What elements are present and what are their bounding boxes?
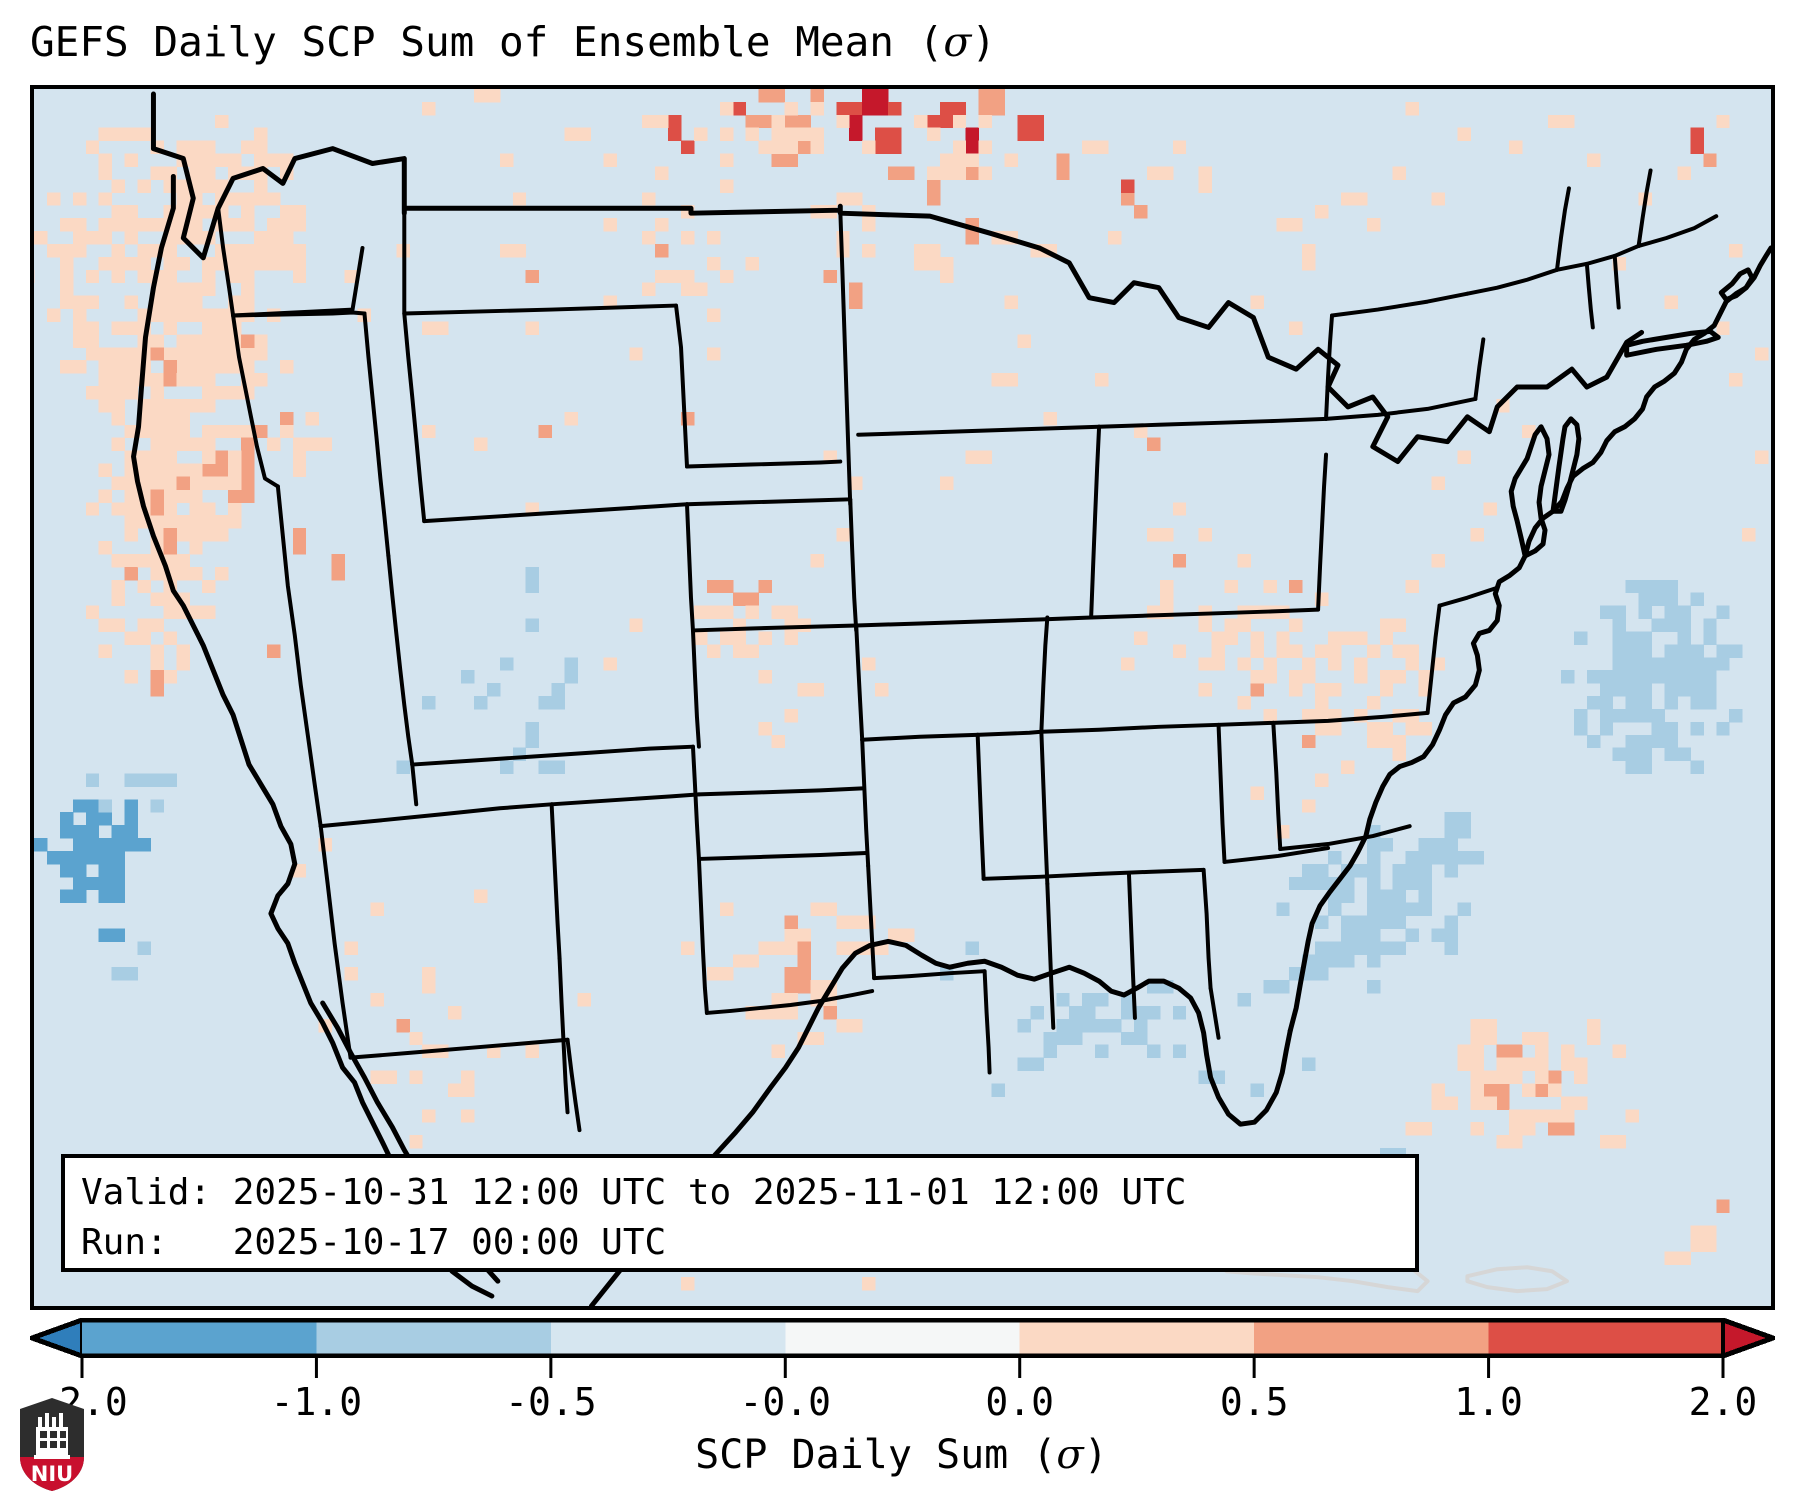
data-cell	[1522, 1058, 1535, 1071]
data-cell	[189, 438, 202, 451]
data-cell	[707, 257, 720, 270]
data-cell	[189, 166, 202, 179]
data-cell	[163, 464, 176, 477]
data-cell	[759, 670, 772, 683]
data-cell	[552, 683, 565, 709]
data-cell	[1587, 735, 1600, 748]
data-cell	[1212, 657, 1225, 670]
data-cell	[1199, 166, 1212, 192]
data-cell	[1664, 1251, 1690, 1264]
data-cell	[1470, 1096, 1483, 1109]
data-cell	[1561, 670, 1574, 683]
data-cell	[1639, 735, 1652, 748]
data-cell	[526, 567, 539, 593]
data-cell	[694, 128, 707, 141]
data-cell	[513, 192, 526, 205]
data-cell	[1367, 941, 1380, 954]
data-cell	[202, 528, 215, 541]
data-cell	[189, 154, 202, 167]
data-cell	[176, 464, 189, 477]
data-cell	[422, 1109, 435, 1122]
data-cell	[1380, 722, 1393, 735]
data-cell	[125, 218, 138, 231]
data-cell	[1276, 218, 1302, 231]
data-cell	[720, 270, 733, 283]
data-cell	[125, 502, 138, 515]
data-cell	[1341, 890, 1354, 903]
data-cell	[953, 141, 966, 154]
data-cell	[1419, 864, 1432, 877]
data-cell	[1367, 218, 1380, 231]
data-cell	[1716, 321, 1729, 334]
data-cell	[1406, 102, 1419, 115]
data-cell	[1354, 864, 1367, 877]
data-cell	[138, 244, 151, 257]
data-cell	[112, 399, 125, 412]
data-cell	[810, 554, 823, 567]
data-cell	[1354, 631, 1367, 644]
data-cell	[1626, 657, 1639, 670]
data-cell	[202, 360, 215, 373]
data-cell	[1367, 851, 1380, 864]
data-cell	[1522, 1032, 1548, 1045]
data-cell	[112, 373, 125, 386]
data-cell	[228, 502, 241, 515]
data-cell	[1108, 231, 1121, 244]
data-cell	[1237, 696, 1250, 709]
data-cell	[1677, 683, 1690, 696]
data-cell	[99, 218, 112, 231]
data-cell	[1380, 631, 1393, 644]
data-cell	[99, 347, 112, 360]
data-cell	[733, 102, 746, 115]
data-cell	[254, 231, 267, 244]
data-cell	[1406, 1122, 1432, 1135]
data-cell	[86, 877, 99, 890]
data-cell	[150, 670, 163, 696]
data-cell	[150, 399, 163, 412]
data-cell	[125, 231, 138, 244]
data-cell	[1664, 748, 1677, 761]
data-cell	[1173, 502, 1186, 515]
data-cell	[47, 851, 60, 864]
data-cell	[1173, 1045, 1186, 1058]
colorbar-tick-label: 1.0	[1454, 1380, 1523, 1424]
data-cell	[1367, 903, 1380, 916]
data-cell	[1445, 1096, 1458, 1109]
data-cell	[1225, 619, 1238, 632]
data-cell	[1432, 1083, 1445, 1096]
data-cell	[1626, 670, 1639, 683]
data-cell	[966, 451, 992, 464]
data-cell	[176, 425, 189, 438]
data-cell	[1690, 761, 1703, 774]
data-cell	[1328, 644, 1341, 657]
data-cell	[1225, 580, 1238, 593]
data-cell	[1548, 115, 1574, 128]
data-cell	[241, 438, 254, 464]
data-cell	[785, 928, 811, 941]
data-cell	[1626, 1109, 1639, 1122]
data-cell	[86, 606, 99, 619]
data-cell	[1367, 954, 1380, 967]
data-cell	[1393, 166, 1406, 179]
data-cell	[99, 644, 112, 657]
colorbar-label-main: SCP Daily Sum (	[695, 1432, 1056, 1478]
data-cell	[280, 360, 293, 373]
data-cell	[603, 657, 616, 670]
data-cell	[215, 309, 228, 322]
data-cell	[138, 464, 151, 477]
data-cell	[138, 838, 151, 851]
data-cell	[163, 399, 176, 412]
data-cell	[138, 580, 151, 593]
data-cell	[1250, 631, 1263, 644]
data-cell	[1703, 154, 1716, 167]
data-cell	[228, 386, 241, 399]
data-cell	[1393, 864, 1406, 877]
data-cell	[112, 825, 125, 838]
data-cell	[1302, 244, 1315, 270]
data-cell	[797, 941, 810, 967]
data-cell	[1742, 528, 1755, 541]
data-cell	[849, 283, 862, 309]
data-cell	[228, 257, 241, 270]
data-cell	[720, 903, 733, 916]
data-cell	[150, 567, 163, 580]
data-cell	[86, 774, 99, 787]
data-cell	[125, 360, 138, 373]
data-cell	[163, 489, 176, 502]
data-cell	[1017, 334, 1030, 347]
data-cell	[202, 451, 215, 464]
data-cell	[86, 347, 99, 360]
data-cell	[1095, 1045, 1108, 1058]
data-cell	[1509, 1109, 1522, 1122]
data-cell	[150, 464, 163, 477]
data-cell	[163, 502, 176, 515]
data-cell	[112, 593, 125, 606]
data-cell	[202, 309, 215, 322]
data-cell	[1587, 154, 1600, 167]
data-cell	[86, 502, 99, 515]
data-cell	[1445, 812, 1471, 838]
data-cell	[1626, 735, 1639, 748]
data-cell	[474, 696, 487, 709]
data-cell	[163, 283, 176, 296]
data-cell	[189, 283, 202, 296]
data-cell	[565, 412, 578, 425]
data-cell	[772, 735, 785, 748]
data-cell	[1522, 1122, 1535, 1135]
data-cell	[280, 218, 293, 231]
niu-logo: NIU	[14, 1395, 90, 1493]
data-cell	[422, 967, 435, 993]
data-cell	[1315, 864, 1328, 877]
data-cell	[1626, 683, 1639, 696]
data-cell	[953, 166, 966, 179]
data-cell	[163, 321, 176, 334]
data-cell	[1716, 722, 1729, 735]
data-cell	[953, 115, 966, 128]
data-cell	[189, 489, 202, 502]
data-cell	[1457, 128, 1470, 141]
data-cell	[215, 347, 228, 360]
data-cell	[1690, 722, 1703, 735]
data-cell	[1380, 619, 1406, 632]
data-cell	[849, 115, 862, 141]
data-cell	[125, 799, 138, 812]
data-cell	[99, 373, 112, 386]
data-cell	[1600, 1135, 1626, 1148]
data-cell	[189, 476, 202, 489]
data-cell	[306, 438, 319, 451]
data-cell	[125, 489, 138, 502]
data-cell	[99, 928, 125, 941]
data-cell	[1199, 619, 1212, 632]
data-cell	[125, 528, 138, 541]
data-cell	[1406, 851, 1419, 864]
data-cell	[1302, 1058, 1315, 1071]
data-cell	[1121, 1032, 1134, 1045]
data-cell	[772, 606, 785, 619]
data-cell	[1522, 1083, 1535, 1096]
data-cell	[1302, 657, 1315, 670]
data-cell	[1652, 619, 1665, 632]
data-cell	[176, 476, 189, 489]
data-cell	[966, 154, 979, 167]
data-cell	[47, 309, 60, 322]
data-cell	[1173, 554, 1186, 567]
data-cell	[1315, 696, 1328, 709]
colorbar-tick-label: -0.5	[505, 1380, 597, 1424]
data-cell	[746, 128, 759, 141]
data-cell	[1457, 1045, 1470, 1058]
data-cell	[99, 851, 112, 864]
data-cell	[112, 864, 125, 877]
data-cell	[176, 438, 189, 451]
data-cell	[176, 283, 189, 296]
data-cell	[1341, 761, 1354, 774]
data-cell	[1664, 683, 1677, 696]
data-cell	[1470, 1045, 1483, 1058]
data-cell	[176, 347, 189, 360]
data-cell	[241, 192, 254, 205]
data-cell	[785, 141, 798, 154]
data-cell	[1121, 192, 1134, 205]
data-cell	[241, 270, 254, 283]
data-cell	[112, 554, 125, 567]
data-cell	[526, 722, 539, 748]
colorbar-band	[551, 1320, 786, 1356]
data-cell	[99, 192, 112, 205]
colorbar-tick-label: 2.0	[1689, 1380, 1758, 1424]
data-cell	[228, 515, 241, 528]
data-cell	[189, 399, 202, 412]
data-cell	[1703, 657, 1716, 670]
data-cell	[1250, 644, 1263, 657]
valid-line: Valid: 2025-10-31 12:00 UTC to 2025-11-0…	[81, 1168, 1399, 1218]
data-cell	[1367, 696, 1380, 709]
data-cell	[112, 244, 125, 257]
data-cell	[1600, 709, 1613, 722]
data-cell	[202, 386, 215, 399]
info-textbox: Valid: 2025-10-31 12:00 UTC to 2025-11-0…	[61, 1154, 1419, 1272]
data-cell	[1613, 657, 1626, 670]
data-cell	[1005, 154, 1018, 167]
data-cell	[47, 244, 60, 257]
data-cell	[202, 373, 215, 386]
data-cell	[176, 644, 189, 657]
data-cell	[1199, 528, 1212, 541]
data-cell	[163, 606, 176, 619]
data-cell	[280, 244, 293, 257]
data-cell	[150, 334, 163, 347]
data-cell	[1406, 580, 1419, 593]
data-cell	[772, 128, 785, 141]
data-cell	[409, 1135, 422, 1148]
data-cell	[176, 515, 189, 528]
data-cell	[1626, 761, 1639, 774]
data-cell	[60, 812, 73, 825]
colorbar-gradient[interactable]	[30, 1318, 1775, 1358]
data-cell	[202, 347, 215, 360]
data-cell	[125, 386, 138, 399]
data-cell	[448, 1006, 461, 1019]
data-cell	[60, 864, 73, 877]
data-cell	[370, 1071, 383, 1084]
data-cell	[138, 554, 151, 567]
data-cell	[150, 774, 163, 787]
colorbar[interactable]	[30, 1318, 1775, 1358]
data-cell	[189, 334, 202, 347]
data-cell	[138, 774, 151, 787]
data-cell	[1613, 606, 1626, 619]
data-cell	[1173, 644, 1186, 657]
data-cell	[642, 192, 655, 205]
data-cell	[1639, 631, 1652, 644]
data-cell	[1703, 631, 1716, 644]
data-cell	[1017, 115, 1043, 141]
data-cell	[720, 179, 733, 192]
data-cell	[1250, 683, 1263, 696]
map-plot-area[interactable]: Valid: 2025-10-31 12:00 UTC to 2025-11-0…	[30, 85, 1775, 1310]
data-cell	[1095, 373, 1108, 386]
data-cell	[1134, 1032, 1147, 1045]
data-cell	[189, 502, 202, 515]
data-cell	[202, 399, 215, 412]
data-cell	[681, 941, 694, 954]
data-cell	[810, 141, 823, 154]
data-cell	[215, 334, 228, 347]
data-cell	[176, 296, 189, 309]
data-cell	[500, 761, 513, 774]
data-cell	[785, 916, 798, 929]
data-cell	[836, 528, 849, 541]
data-cell	[1315, 941, 1328, 954]
data-cell	[1367, 644, 1380, 657]
data-cell	[383, 1071, 396, 1084]
data-cell	[202, 476, 215, 489]
data-cell	[1690, 593, 1703, 606]
data-cell	[914, 115, 927, 128]
data-cell	[992, 373, 1018, 386]
data-cell	[862, 244, 875, 257]
data-cell	[668, 115, 681, 141]
data-cell	[370, 993, 383, 1006]
data-cell	[1367, 838, 1380, 851]
data-cell	[138, 179, 151, 192]
data-cell	[875, 683, 888, 696]
colorbar-tick-labels: -2.0-1.0-0.5-0.00.00.51.02.0	[0, 1380, 1803, 1428]
data-cell	[1134, 205, 1147, 218]
data-cell	[112, 386, 125, 399]
data-cell	[176, 192, 189, 205]
data-cell	[99, 386, 112, 399]
data-cell	[694, 631, 707, 644]
colorbar-axis-label: SCP Daily Sum (σ)	[0, 1432, 1803, 1478]
data-cell	[1716, 1200, 1729, 1213]
data-cell	[422, 696, 435, 709]
data-cell	[150, 476, 163, 489]
data-cell	[1173, 1006, 1186, 1019]
data-cell	[125, 128, 138, 141]
data-cell	[759, 141, 772, 154]
data-cell	[215, 115, 228, 128]
data-cell	[280, 257, 293, 270]
data-cell	[785, 967, 811, 993]
sigma-glyph: σ	[943, 18, 971, 66]
data-cell	[746, 606, 759, 619]
data-cell	[1147, 166, 1173, 179]
data-cell	[1483, 1071, 1496, 1084]
data-cell	[1587, 670, 1600, 683]
data-cell	[979, 141, 992, 154]
data-cell	[1302, 670, 1315, 683]
data-cell	[1367, 980, 1380, 993]
data-cell	[47, 192, 60, 205]
data-cell	[785, 709, 798, 722]
data-cell	[1561, 1096, 1574, 1109]
data-cell	[267, 192, 280, 205]
data-cell	[1716, 115, 1729, 128]
data-cell	[1574, 1071, 1587, 1084]
data-cell	[772, 141, 785, 154]
data-cell	[73, 851, 86, 864]
data-cell	[1457, 851, 1483, 864]
data-cell	[1613, 748, 1626, 761]
data-cell	[202, 166, 215, 179]
data-cell	[254, 128, 267, 141]
data-cell	[1380, 735, 1393, 748]
data-cell	[189, 567, 202, 580]
data-cell	[1276, 644, 1289, 657]
data-cell	[1406, 657, 1419, 670]
data-cell	[228, 464, 241, 477]
data-cell	[862, 1277, 875, 1290]
data-cell	[707, 309, 720, 322]
data-cell	[1393, 916, 1406, 929]
data-cell	[1147, 1006, 1160, 1019]
data-cell	[163, 270, 176, 283]
colorbar-band	[1020, 1320, 1255, 1356]
data-cell	[138, 128, 151, 141]
data-cell	[1457, 1058, 1483, 1071]
data-cell	[86, 851, 99, 864]
data-cell	[409, 1032, 422, 1045]
data-cell	[1639, 606, 1652, 619]
data-cell	[60, 296, 73, 309]
